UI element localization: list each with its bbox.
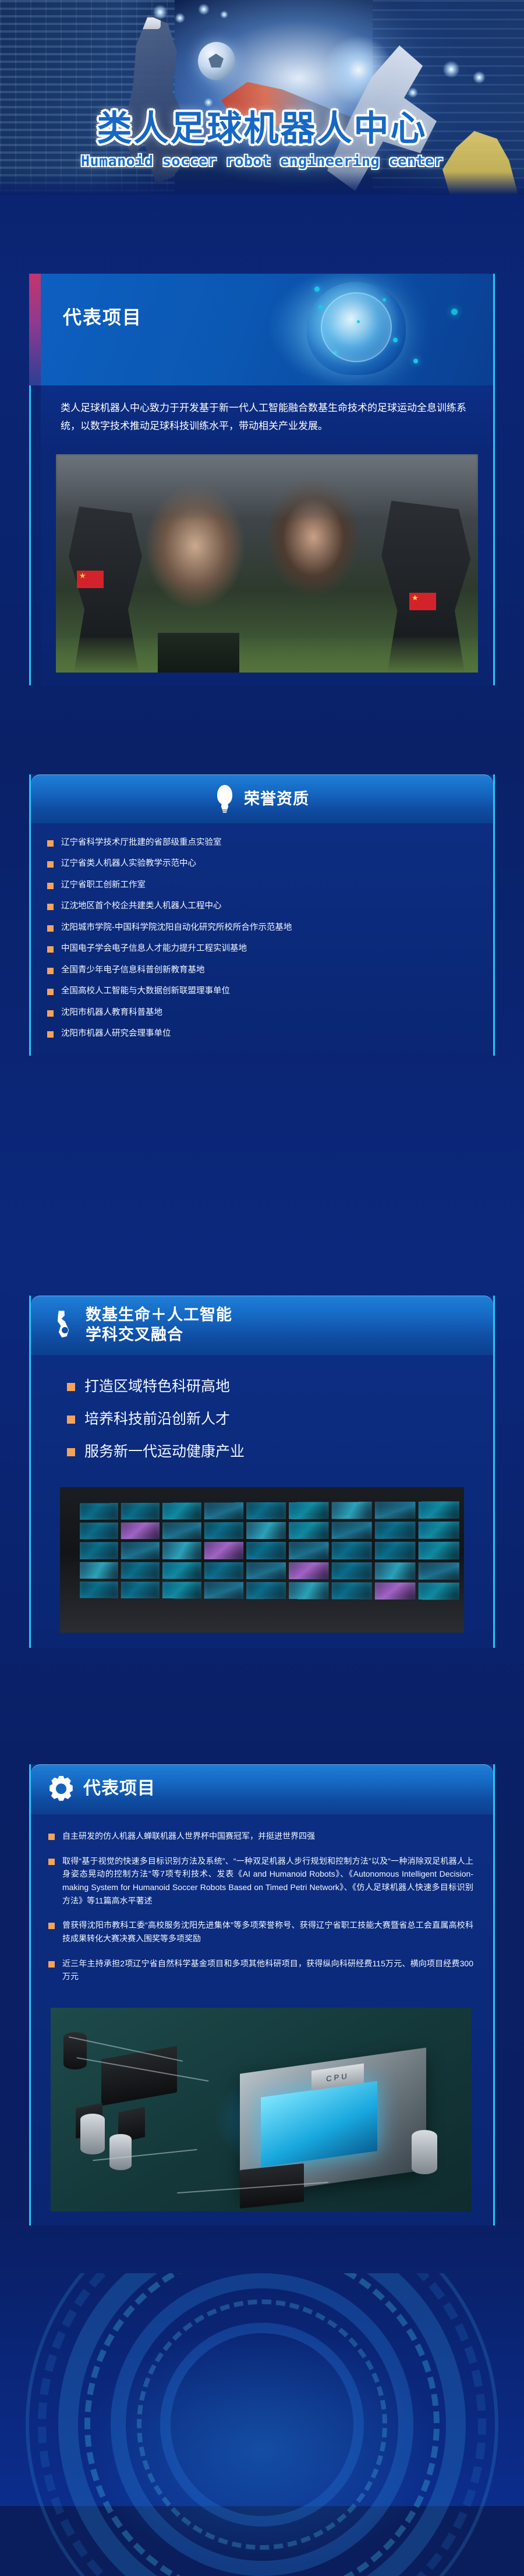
card-title: 荣誉资质 — [244, 789, 309, 809]
list-item: 近三年主持承担2项辽宁省自然科学基金项目和多项其他科研项目，获得纵向科研经费11… — [48, 1957, 473, 1983]
projects-list: 自主研发的仿人机器人蝉联机器人世界杯中国赛冠军，并挺进世界四强 取得“基于视觉的… — [48, 1830, 473, 1983]
card-honors: 荣誉资质 辽宁省科学技术厅批建的省部级重点实验室 辽宁省类人机器人实验教学示范中… — [29, 774, 495, 1056]
stadium-light — [198, 3, 210, 15]
list-item: 自主研发的仿人机器人蝉联机器人世界杯中国赛冠军，并挺进世界四强 — [48, 1830, 473, 1843]
card-title-line2: 学科交叉融合 — [86, 1325, 232, 1344]
soccer-ball — [198, 42, 235, 80]
bullet-square-icon — [67, 1448, 75, 1456]
list-item: 辽沈地区首个校企共建类人机器人工程中心 — [47, 900, 477, 912]
video-wall-photo — [60, 1487, 464, 1633]
gear-icon — [48, 1776, 74, 1802]
robots-lab-photo — [56, 454, 478, 673]
page-title: 类人足球机器人中心 — [0, 100, 524, 151]
bullet-square-icon — [47, 946, 54, 953]
list-item: 沈阳市机器人教育科普基地 — [47, 1006, 477, 1019]
bullet-square-icon — [47, 883, 54, 889]
list-item: 沈阳市机器人研究会理事单位 — [47, 1027, 477, 1040]
discipline-goals-list: 打造区域特色科研高地 培养科技前沿创新人才 服务新一代运动健康产业 — [47, 1370, 477, 1477]
card-title: 代表项目 — [63, 303, 142, 330]
list-item: 服务新一代运动健康产业 — [67, 1442, 471, 1462]
card-header-project-intro: 代表项目 — [41, 274, 493, 385]
photo-container-circuit-board: CPU — [48, 1995, 473, 2214]
list-item: 取得“基于视觉的快速多目标识别方法及系统”、“一种双足机器人步行规划和控制方法”… — [48, 1855, 473, 1908]
bullet-square-icon — [47, 861, 54, 868]
bullet-square-icon — [47, 989, 54, 995]
photo-container-video-wall — [47, 1477, 477, 1635]
list-item: 中国电子学会电子信息人才能力提升工程实训基地 — [47, 942, 477, 955]
card-header-discipline: 数基生命＋人工智能 学科交叉融合 — [31, 1296, 493, 1355]
circuit-board-cpu-photo: CPU — [51, 2008, 471, 2211]
card-body-honors: 辽宁省科学技术厅批建的省部级重点实验室 辽宁省类人机器人实验教学示范中心 辽宁省… — [31, 823, 493, 1056]
bullet-square-icon — [67, 1383, 75, 1391]
bullet-square-icon — [48, 1923, 55, 1929]
bullet-square-icon — [47, 1010, 54, 1017]
wrench-icon — [51, 1310, 76, 1340]
brain-icon — [307, 282, 406, 375]
stadium-light — [220, 10, 228, 19]
hero-banner: 类人足球机器人中心 Humanoid soccer robot engineer… — [0, 0, 524, 195]
bullet-square-icon — [47, 840, 54, 847]
stadium-light — [473, 71, 486, 84]
pink-accent-bar — [29, 274, 41, 385]
page-subtitle: Humanoid soccer robot engineering center — [0, 153, 524, 169]
card-representative-projects: 代表项目 自主研发的仿人机器人蝉联机器人世界杯中国赛冠军，并挺进世界四强 取得“… — [29, 1764, 495, 2225]
bullet-square-icon — [47, 1031, 54, 1038]
card-body-projects: 自主研发的仿人机器人蝉联机器人世界杯中国赛冠军，并挺进世界四强 取得“基于视觉的… — [31, 1814, 493, 2225]
stadium-light — [153, 5, 168, 20]
honors-list: 辽宁省科学技术厅批建的省部级重点实验室 辽宁省类人机器人实验教学示范中心 辽宁省… — [47, 836, 477, 1041]
bullet-square-icon — [48, 1961, 55, 1968]
card-project-intro: 代表项目 类人足球机器人中心致力于开发基于新一代人工智能融合数基生命技术的足球运… — [29, 274, 495, 685]
list-item: 辽宁省科学技术厅批建的省部级重点实验室 — [47, 836, 477, 849]
bullet-square-icon — [47, 925, 54, 932]
list-item: 辽宁省职工创新工作室 — [47, 879, 477, 891]
bullet-square-icon — [47, 968, 54, 974]
list-item: 全国高校人工智能与大数据创新联盟理事单位 — [47, 985, 477, 997]
photo-container-robots-lab — [41, 448, 493, 685]
card-header-projects: 代表项目 — [31, 1764, 493, 1814]
bullet-square-icon — [48, 1859, 55, 1865]
card-discipline-fusion: 数基生命＋人工智能 学科交叉融合 打造区域特色科研高地 培养科技前沿创新人才 服… — [29, 1296, 495, 1648]
card-header-honors: 荣誉资质 — [31, 774, 493, 823]
card-body-discipline: 打造区域特色科研高地 培养科技前沿创新人才 服务新一代运动健康产业 — [31, 1355, 493, 1648]
project-intro-paragraph: 类人足球机器人中心致力于开发基于新一代人工智能融合数基生命技术的足球运动全息训练… — [61, 399, 473, 436]
card-title: 代表项目 — [83, 1778, 155, 1800]
list-item: 辽宁省类人机器人实验教学示范中心 — [47, 857, 477, 870]
bullet-square-icon — [67, 1416, 75, 1424]
stadium-light — [442, 61, 460, 78]
list-item: 打造区域特色科研高地 — [67, 1377, 471, 1397]
stadium-light — [175, 13, 185, 23]
card-body-project-intro: 类人足球机器人中心致力于开发基于新一代人工智能融合数基生命技术的足球运动全息训练… — [41, 385, 493, 448]
list-item: 培养科技前沿创新人才 — [67, 1410, 471, 1429]
hero-bottom-fade — [0, 172, 524, 195]
lightbulb-icon — [215, 785, 235, 813]
card-title-line1: 数基生命＋人工智能 — [86, 1305, 232, 1325]
list-item: 沈阳城市学院-中国科学院沈阳自动化研究所校所合作示范基地 — [47, 921, 477, 934]
tech-circle-decoration — [12, 2273, 512, 2576]
list-item: 全国青少年电子信息科普创新教育基地 — [47, 964, 477, 976]
list-item: 曾获得沈阳市教科工委“高校服务沈阳先进集体”等多项荣誉称号、获得辽宁省职工技能大… — [48, 1919, 473, 1945]
bullet-square-icon — [48, 1834, 55, 1840]
bullet-square-icon — [47, 904, 54, 910]
